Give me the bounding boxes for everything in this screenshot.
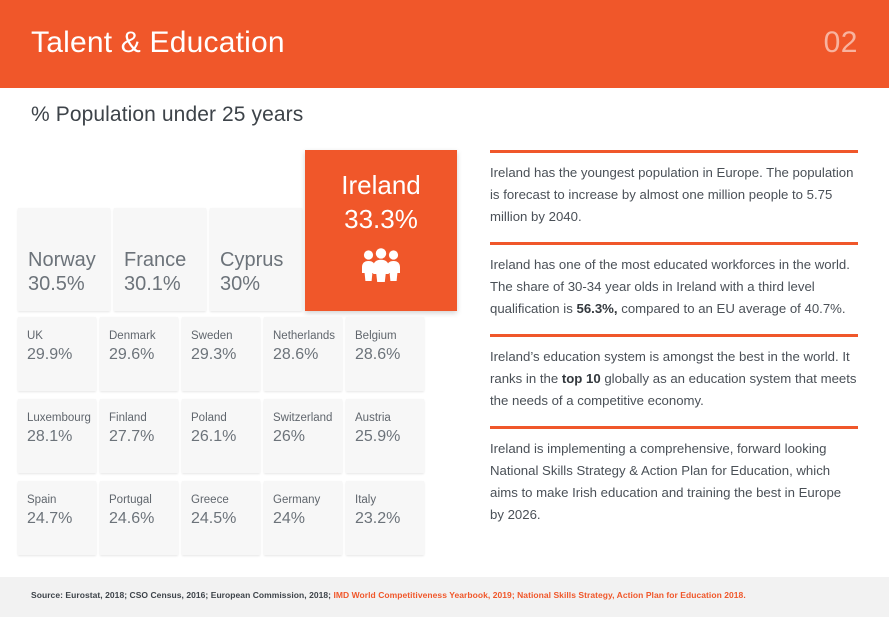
group-of-people-icon [305,248,457,282]
highlight-country-name: Ireland [305,170,457,201]
insight-divider [490,334,858,337]
page-footer: Source: Eurostat, 2018; CSO Census, 2016… [0,577,889,617]
country-value: 26.1% [191,426,236,448]
country-value: 28.6% [273,344,335,366]
country-name: Austria [355,411,400,426]
insight-item: Ireland is implementing a comprehensive,… [490,426,858,526]
country-value: 30.1% [124,272,186,297]
country-tile-spain: Spain 24.7% [18,481,96,555]
country-name: UK [27,329,72,344]
population-tile-grid: Norway 30.5% France 30.1% Cyprus 30% Ire… [18,150,473,560]
country-name: Luxembourg [27,411,91,426]
country-tile-portugal: Portugal 24.6% [100,481,178,555]
insight-text: Ireland has one of the most educated wor… [490,254,858,320]
country-name: Cyprus [220,248,283,272]
country-tile-sweden: Sweden 29.3% [182,317,260,391]
country-name: France [124,248,186,272]
country-tile-italy: Italy 23.2% [346,481,424,555]
country-tile-austria: Austria 25.9% [346,399,424,473]
country-tile-denmark: Denmark 29.6% [100,317,178,391]
country-tile-ireland-highlight: Ireland 33.3% [305,150,457,311]
country-value: 30.5% [28,272,96,297]
insight-text: Ireland has the youngest population in E… [490,162,858,228]
country-name: Switzerland [273,411,332,426]
country-value: 27.7% [109,426,154,448]
country-name: Italy [355,493,400,508]
country-value: 29.3% [191,344,236,366]
country-name: Sweden [191,329,236,344]
source-highlight: IMD World Competitiveness Yearbook, 2019… [333,590,745,600]
country-tile-poland: Poland 26.1% [182,399,260,473]
country-name: Germany [273,493,320,508]
country-name: Greece [191,493,236,508]
country-value: 30% [220,272,283,297]
country-tile-belgium: Belgium 28.6% [346,317,424,391]
country-tile-luxembourg: Luxembourg 28.1% [18,399,96,473]
country-tile-france: France 30.1% [114,208,206,311]
country-name: Poland [191,411,236,426]
country-tile-cyprus: Cyprus 30% [210,208,302,311]
country-value: 24% [273,508,320,530]
insight-divider [490,242,858,245]
country-value: 23.2% [355,508,400,530]
country-value: 28.1% [27,426,91,448]
page-title: Talent & Education [31,26,285,60]
insight-text: Ireland’s education system is amongst th… [490,346,858,412]
country-tile-greece: Greece 24.5% [182,481,260,555]
highlight-country-value: 33.3% [305,204,457,235]
country-tile-norway: Norway 30.5% [18,208,110,311]
insight-text: Ireland is implementing a comprehensive,… [490,438,858,526]
country-tile-uk: UK 29.9% [18,317,96,391]
page-header: Talent & Education 02 [0,0,889,88]
insight-divider [490,150,858,153]
country-tile-switzerland: Switzerland 26% [264,399,342,473]
country-value: 26% [273,426,332,448]
insight-divider [490,426,858,429]
country-tile-germany: Germany 24% [264,481,342,555]
country-name: Spain [27,493,72,508]
country-value: 29.9% [27,344,72,366]
country-value: 24.5% [191,508,236,530]
section-subtitle: % Population under 25 years [31,103,303,127]
country-value: 25.9% [355,426,400,448]
source-citation: Source: Eurostat, 2018; CSO Census, 2016… [31,590,746,600]
country-name: Norway [28,248,96,272]
country-name: Portugal [109,493,154,508]
insight-item: Ireland’s education system is amongst th… [490,334,858,412]
source-prefix: Source: Eurostat, 2018; CSO Census, 2016… [31,590,333,600]
insight-item: Ireland has one of the most educated wor… [490,242,858,320]
country-tile-finland: Finland 27.7% [100,399,178,473]
country-name: Netherlands [273,329,335,344]
country-name: Belgium [355,329,400,344]
country-name: Finland [109,411,154,426]
insight-item: Ireland has the youngest population in E… [490,150,858,228]
country-value: 24.6% [109,508,154,530]
country-tile-netherlands: Netherlands 28.6% [264,317,342,391]
country-name: Denmark [109,329,156,344]
insights-list: Ireland has the youngest population in E… [490,150,858,540]
page-number: 02 [824,26,858,60]
country-value: 29.6% [109,344,156,366]
country-value: 24.7% [27,508,72,530]
country-value: 28.6% [355,344,400,366]
